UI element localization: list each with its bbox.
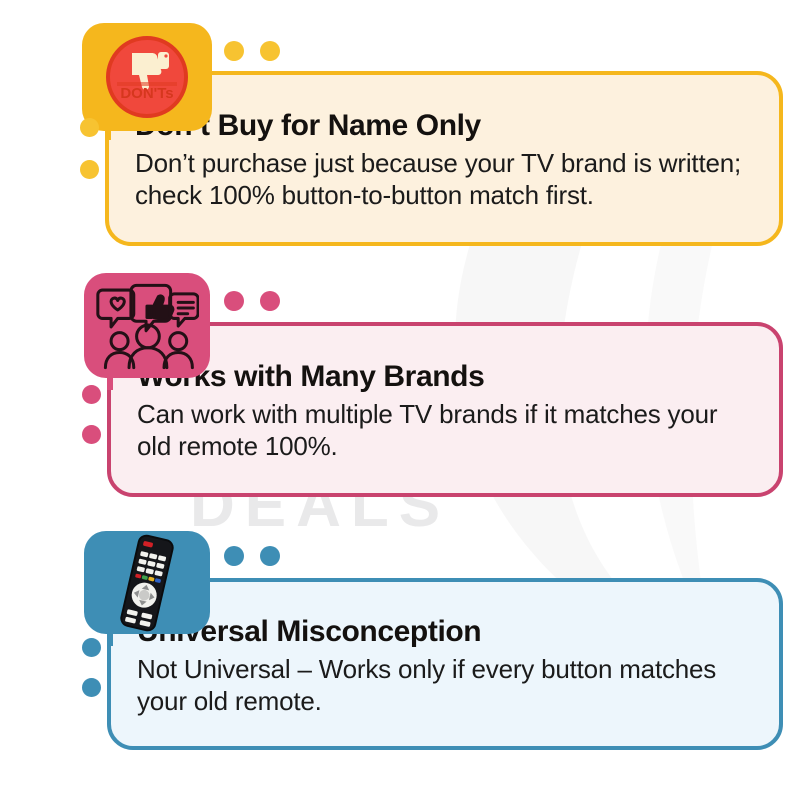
decorative-dot-left-upper <box>80 118 99 137</box>
icon-tab-many-brands <box>84 273 210 378</box>
decorative-dot-left-lower-pink <box>82 425 101 444</box>
card-title-universal: Universal Misconception <box>137 615 753 649</box>
card-title-donts: Don’t Buy for Name Only <box>135 109 753 143</box>
donts-badge-label: DON'Ts <box>120 85 173 102</box>
decorative-dot-top-first-pink <box>224 291 244 311</box>
card-body-many-brands: Can work with multiple TV brands if it m… <box>137 398 753 462</box>
decorative-dot-top-second-blue <box>260 546 280 566</box>
decorative-dot-left-upper-pink <box>82 385 101 404</box>
card-title-many-brands: Works with Many Brands <box>137 360 753 394</box>
decorative-dot-top-first <box>224 41 244 61</box>
card-body-universal: Not Universal – Works only if every butt… <box>137 653 753 717</box>
thumbs-down-donts-badge-icon: DON'Ts <box>105 35 189 119</box>
decorative-dot-left-lower-blue <box>82 678 101 697</box>
decorative-dot-left-lower <box>80 160 99 179</box>
decorative-dot-left-upper-blue <box>82 638 101 657</box>
icon-tab-universal <box>84 531 210 634</box>
decorative-dot-top-second-pink <box>260 291 280 311</box>
icon-tab-donts: DON'Ts <box>82 23 212 131</box>
people-feedback-bubbles-icon <box>95 282 199 370</box>
tv-remote-control-icon <box>108 533 186 633</box>
decorative-dot-top-second <box>260 41 280 61</box>
decorative-dot-top-first-blue <box>224 546 244 566</box>
card-body-donts: Don’t purchase just because your TV bran… <box>135 147 753 211</box>
infographic-canvas: DEALS Don’t Buy for Name Only Don’t purc… <box>0 0 800 800</box>
